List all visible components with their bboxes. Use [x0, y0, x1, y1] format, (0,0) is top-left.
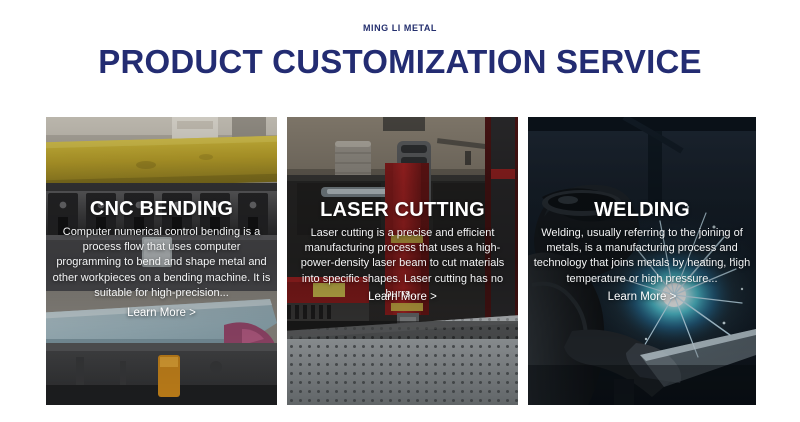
- cnc-bending-description: Computer numerical control bending is a …: [50, 225, 273, 301]
- brand-eyebrow: MING LI METAL: [0, 22, 800, 34]
- page-header: MING LI METAL PRODUCT CUSTOMIZATION SERV…: [0, 0, 800, 82]
- cnc-bending-title: CNC BENDING: [50, 197, 273, 221]
- welding-content: WELDING Welding, usually referring to th…: [528, 198, 756, 287]
- welding-description: Welding, usually referring to the joinin…: [532, 226, 752, 287]
- laser-cutting-learn-more-link[interactable]: Learn More >: [368, 290, 437, 305]
- welding-title: WELDING: [532, 198, 752, 222]
- page-title: PRODUCT CUSTOMIZATION SERVICE: [0, 42, 800, 82]
- service-card-cnc-bending[interactable]: CNC BENDING Computer numerical control b…: [46, 117, 277, 405]
- service-cards-row: CNC BENDING Computer numerical control b…: [46, 117, 756, 405]
- cnc-bending-learn-more-link[interactable]: Learn More >: [127, 306, 196, 321]
- page-root: MING LI METAL PRODUCT CUSTOMIZATION SERV…: [0, 0, 800, 422]
- service-card-laser-cutting[interactable]: LASER CUTTING Laser cutting is a precise…: [287, 117, 518, 405]
- service-card-welding[interactable]: WELDING Welding, usually referring to th…: [528, 117, 756, 405]
- laser-cutting-title: LASER CUTTING: [291, 198, 514, 222]
- cnc-bending-link-wrap: Learn More >: [46, 303, 277, 321]
- cnc-bending-content: CNC BENDING Computer numerical control b…: [46, 197, 277, 301]
- laser-cutting-link-wrap: Learn More >: [287, 287, 518, 305]
- welding-link-wrap: Learn More >: [528, 287, 756, 305]
- welding-learn-more-link[interactable]: Learn More >: [608, 290, 677, 305]
